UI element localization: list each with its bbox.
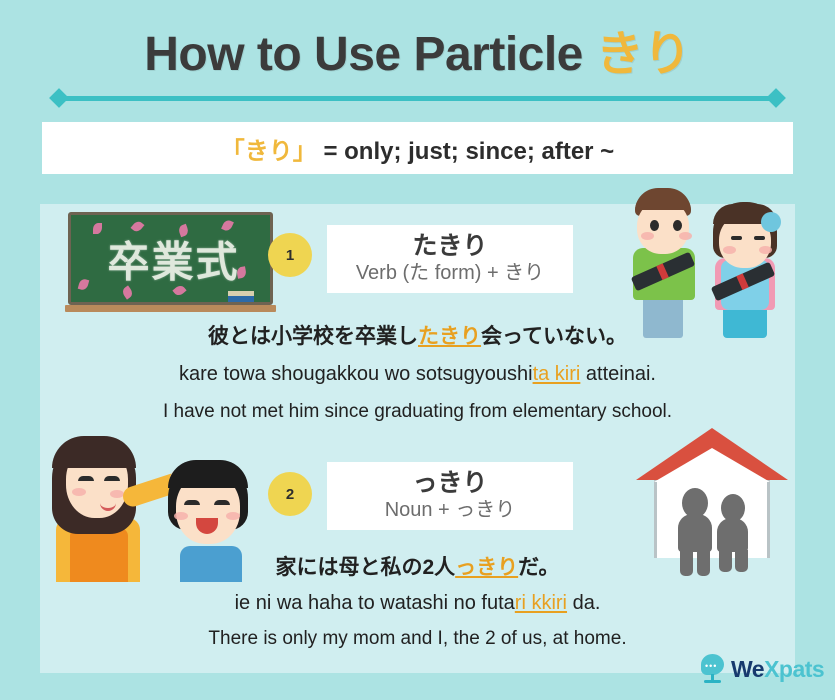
title-divider [52,90,783,106]
person-figure-icon [676,488,716,558]
form-title-1: たきり [412,232,487,261]
form-pattern-1: Verb (た form) + きり [356,261,544,286]
example-2-english: There is only my mom and I, the 2 of us,… [0,628,835,650]
example-1-jp-before: 彼とは小学校を卒業し [208,325,418,348]
house-with-two-people-icon [636,428,788,558]
page-title-main: How to Use Particle [144,28,583,81]
student-girl-icon [699,200,799,338]
chalk-eraser-icon [228,291,254,304]
example-1-romaji-after: atteinai. [580,363,656,385]
page-title-accent: きり [596,28,691,81]
globe-dots: ••• [705,662,717,671]
example-2-jp-highlight: っきり [455,556,518,579]
subtitle-quoted-term: 「きり」 [221,138,317,165]
step-badge-2: 2 [268,472,312,516]
subtitle-text: 「きり」 = only; just; since; after ~ [221,131,614,166]
chalkboard-graduation-icon: 卒業式 [68,212,273,317]
step-badge-1: 1 [268,233,312,277]
example-1-romaji: kare towa shougakkou wo sotsugyoushita k… [0,363,835,386]
chalkboard-surface: 卒業式 [68,212,273,305]
example-1-romaji-highlight: ta kiri [533,363,581,385]
chalkboard-text: 卒業式 [71,228,273,289]
form-title-2: っきり [412,469,487,498]
example-1-romaji-before: kare towa shougakkou wo sotsugyoushi [179,363,533,385]
wexpats-logo[interactable]: ••• WeXpats [700,654,824,684]
example-1-japanese: 彼とは小学校を卒業したきり会っていない。 [0,320,835,350]
step-badge-2-label: 2 [286,486,294,503]
example-2-japanese: 家には母と私の2人っきりだ。 [0,551,835,581]
hair-flower-icon [761,212,781,232]
form-pattern-2: Noun + っきり [385,498,516,523]
subtitle-definition: = only; just; since; after ~ [323,138,614,165]
example-2-jp-after: だ。 [518,556,559,579]
infographic-page: How to Use Particle きり 「きり」 = only; just… [0,0,835,700]
graduating-students-icon [617,186,807,338]
example-2-romaji-after: da. [567,592,600,614]
example-2-romaji-before: ie ni wa haha to watashi no futa [235,592,515,614]
example-2-romaji: ie ni wa haha to watashi no futari kkiri… [0,592,835,615]
example-2-jp-before: 家には母と私の2人 [275,556,455,579]
logo-xpats: Xpats [764,656,824,682]
form-card-2: っきり Noun + っきり [327,462,573,530]
step-badge-1-label: 1 [286,247,294,264]
example-2-romaji-highlight: ri kkiri [515,592,567,614]
wexpats-wordmark: WeXpats [731,658,824,681]
chalkboard-ledge [65,305,276,312]
divider-bar [60,96,775,101]
logo-we: We [731,656,764,682]
subtitle-banner: 「きり」 = only; just; since; after ~ [42,122,793,174]
diamond-right-icon [766,88,786,108]
person-figure-icon [716,494,752,558]
example-1-english: I have not met him since graduating from… [0,401,835,423]
form-card-1: たきり Verb (た form) + きり [327,225,573,293]
example-1-jp-highlight: たきり [418,325,481,348]
page-title: How to Use Particle きり [0,14,835,84]
globe-icon: ••• [700,654,726,684]
example-1-jp-after: 会っていない。 [481,325,627,348]
